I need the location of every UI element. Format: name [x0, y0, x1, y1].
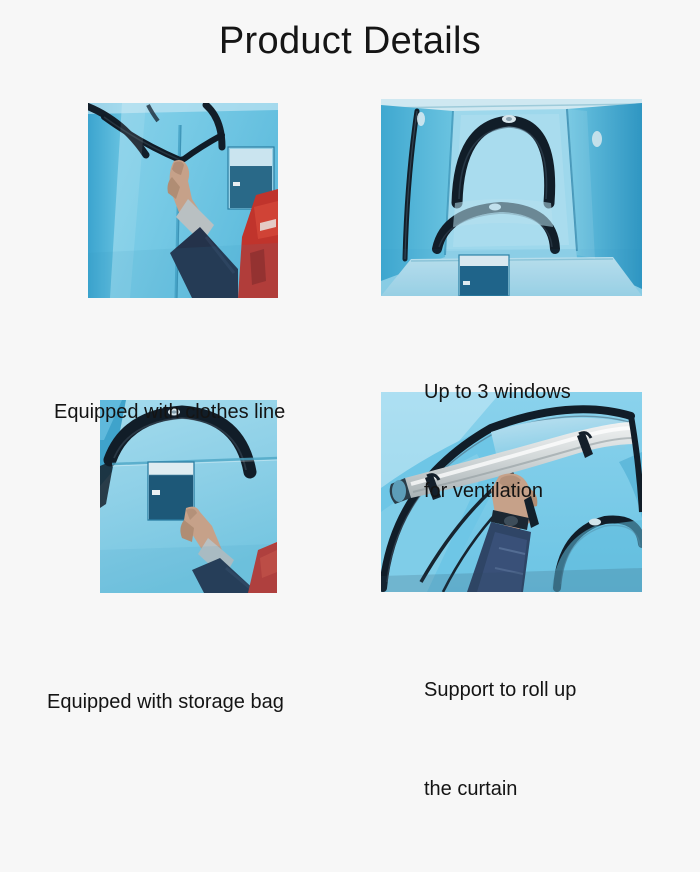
- tent-clothes-line-illustration: [88, 103, 278, 298]
- photo-tent-windows: [381, 99, 642, 296]
- caption-line: Equipped with storage bag: [47, 686, 284, 719]
- caption-line: the curtain: [424, 773, 576, 806]
- caption-line: for ventilation: [424, 475, 571, 508]
- product-details-page: Product Details: [0, 0, 700, 700]
- caption-roll-curtain: Support to roll up the curtain: [424, 608, 576, 872]
- page-title: Product Details: [0, 18, 700, 64]
- caption-clothes-line: Equipped with clothes line: [54, 330, 285, 495]
- photo-tent-clothes-line: [88, 103, 278, 298]
- tent-windows-illustration: [381, 99, 642, 296]
- caption-storage-bag: Equipped with storage bag: [47, 620, 284, 785]
- caption-windows: Up to 3 windows for ventilation: [424, 310, 571, 574]
- caption-line: Equipped with clothes line: [54, 396, 285, 429]
- caption-line: Up to 3 windows: [424, 376, 571, 409]
- caption-line: Support to roll up: [424, 674, 576, 707]
